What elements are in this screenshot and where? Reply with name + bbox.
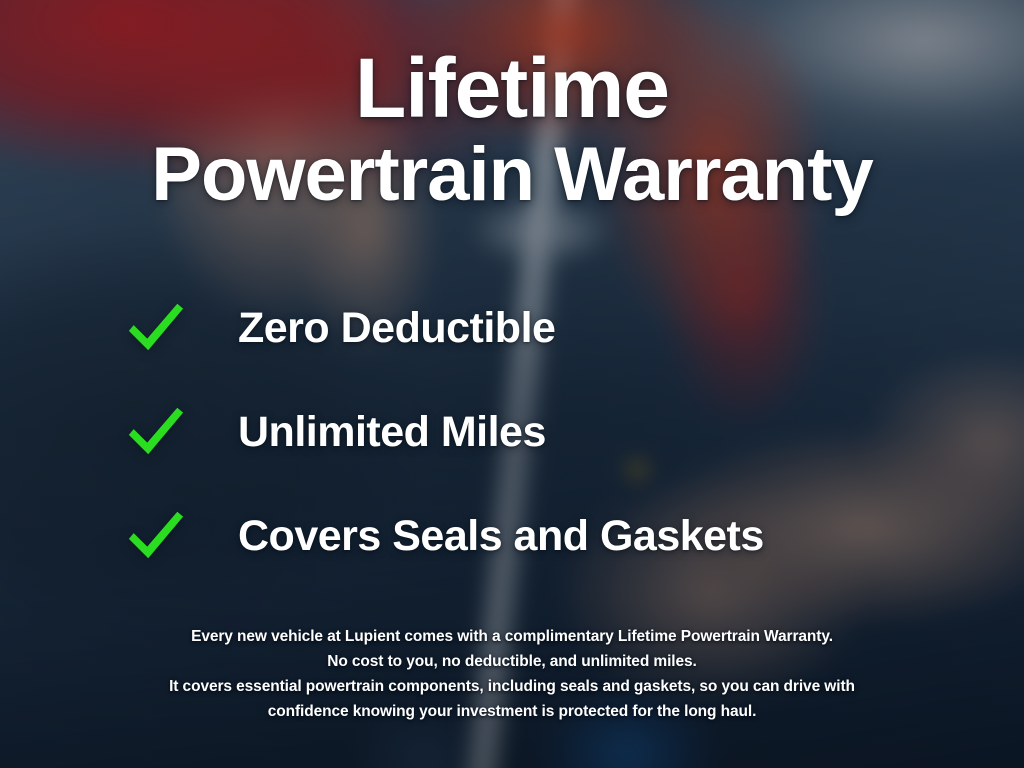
- benefit-label: Covers Seals and Gaskets: [238, 512, 764, 561]
- blurb-line-1: Every new vehicle at Lupient comes with …: [60, 624, 964, 649]
- benefit-list: Zero Deductible Unlimited Miles Covers S…: [124, 278, 964, 586]
- list-item: Zero Deductible: [124, 278, 964, 378]
- blurb-line-2: No cost to you, no deductible, and unlim…: [60, 649, 964, 674]
- benefit-label: Unlimited Miles: [238, 408, 546, 457]
- blurb-line-4: confidence knowing your investment is pr…: [60, 699, 964, 724]
- check-icon: [124, 401, 186, 463]
- description-paragraph: Every new vehicle at Lupient comes with …: [60, 624, 964, 724]
- benefit-label: Zero Deductible: [238, 304, 555, 353]
- warranty-promo-banner: Lifetime Powertrain Warranty Zero Deduct…: [0, 0, 1024, 768]
- list-item: Covers Seals and Gaskets: [124, 486, 964, 586]
- list-item: Unlimited Miles: [124, 382, 964, 482]
- banner-content: Lifetime Powertrain Warranty Zero Deduct…: [0, 0, 1024, 768]
- check-icon: [124, 297, 186, 359]
- headline-line-1: Lifetime: [0, 48, 1024, 129]
- page-title: Lifetime Powertrain Warranty: [0, 48, 1024, 212]
- check-icon: [124, 505, 186, 567]
- headline-line-2: Powertrain Warranty: [0, 139, 1024, 212]
- blurb-line-3: It covers essential powertrain component…: [60, 674, 964, 699]
